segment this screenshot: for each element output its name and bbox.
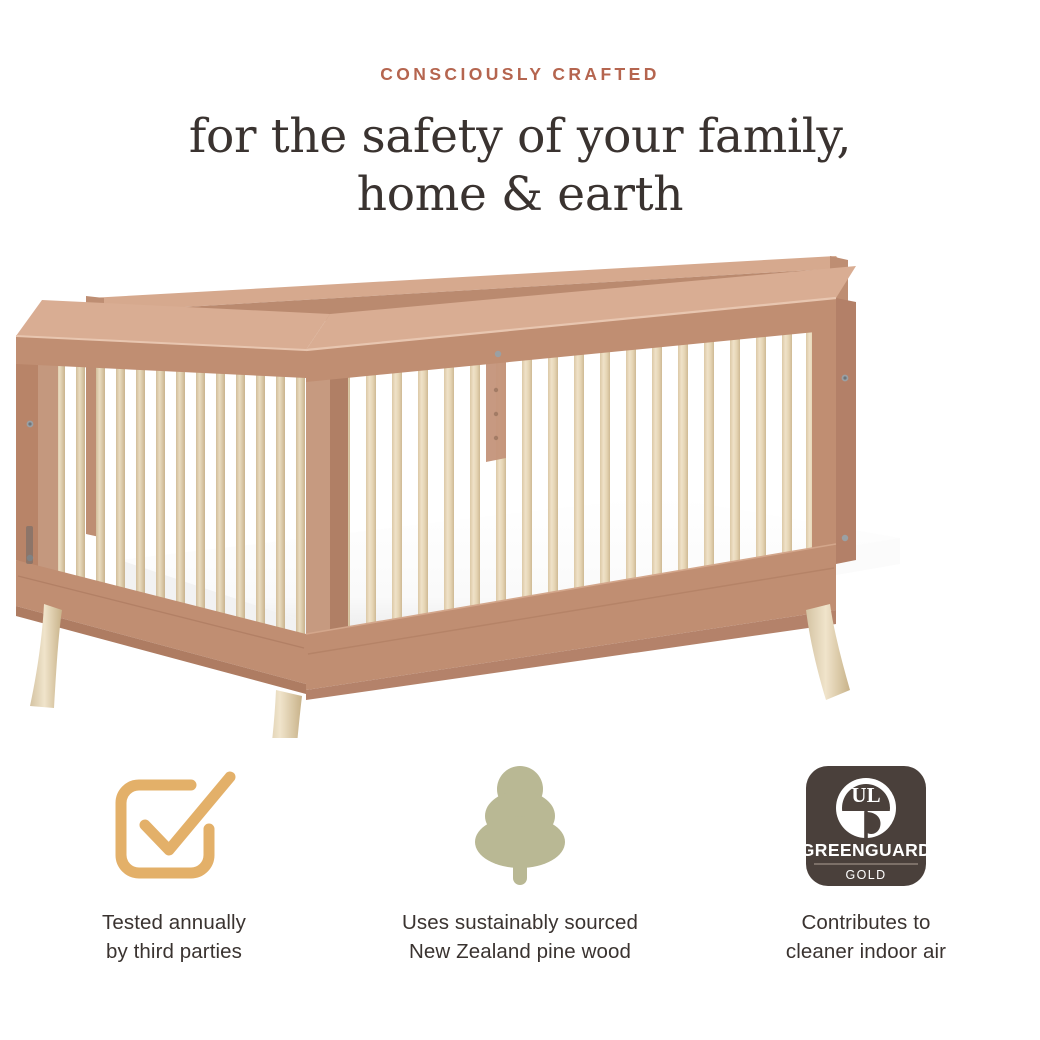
crib-corner-post-left-inner	[330, 348, 348, 654]
crib-label-tag	[26, 526, 33, 564]
feature-caption-line-2: cleaner indoor air	[786, 937, 946, 966]
product-image-crib	[0, 238, 1040, 738]
feature-caption-line-1: Uses sustainably sourced	[402, 908, 638, 937]
crib-corner-post-right-inner	[836, 298, 856, 564]
crib-far-left-post	[36, 340, 58, 578]
feature-caption-line-2: by third parties	[102, 937, 246, 966]
feature-row: Tested annually by third parties Uses su…	[0, 760, 1040, 1000]
crib-leg-front-left	[262, 690, 302, 738]
feature-caption: Contributes to cleaner indoor air	[786, 908, 946, 966]
crib-corner-post-right-outer	[812, 298, 836, 568]
greenguard-gold-badge-icon: UL GREENGUARD GOLD	[804, 764, 928, 888]
feature-sustainable-wood: Uses sustainably sourced New Zealand pin…	[347, 760, 693, 966]
feature-icon-wrap	[459, 760, 581, 892]
crib-corner-post-left-outer	[306, 348, 330, 654]
feature-caption: Uses sustainably sourced New Zealand pin…	[402, 908, 638, 966]
greenguard-tier: GOLD	[845, 868, 886, 882]
greenguard-wordmark: GREENGUARD	[804, 840, 928, 860]
eyebrow-text: CONSCIOUSLY CRAFTED	[0, 64, 1040, 85]
ul-monogram: UL	[851, 783, 880, 807]
crib-leg-right	[806, 604, 850, 700]
feature-caption-line-1: Tested annually	[102, 908, 246, 937]
headline-line-2: home & earth	[0, 166, 1040, 224]
feature-caption-line-2: New Zealand pine wood	[402, 937, 638, 966]
feature-icon-wrap	[99, 760, 249, 892]
headline-line-1: for the safety of your family,	[0, 108, 1040, 166]
feature-caption-line-1: Contributes to	[786, 908, 946, 937]
page-title: for the safety of your family, home & ea…	[0, 108, 1040, 224]
feature-clean-air: UL GREENGUARD GOLD Contributes to cleane…	[693, 760, 1039, 966]
feature-icon-wrap: UL GREENGUARD GOLD	[804, 760, 928, 892]
checkbox-check-icon	[99, 763, 249, 889]
feature-tested-annually: Tested annually by third parties	[1, 760, 347, 966]
marketing-product-page: CONSCIOUSLY CRAFTED for the safety of yo…	[0, 0, 1040, 1040]
crib-illustration	[0, 238, 1040, 738]
feature-caption: Tested annually by third parties	[102, 908, 246, 966]
tree-icon	[459, 763, 581, 889]
